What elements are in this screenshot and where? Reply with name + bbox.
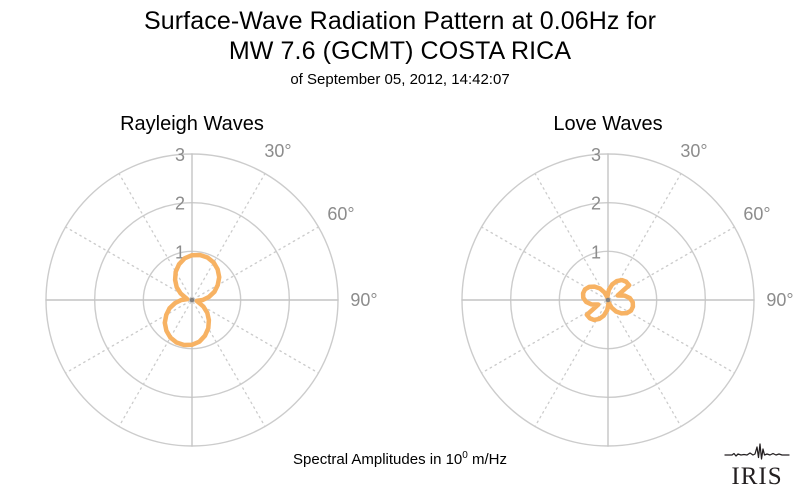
angle-tick-label: 90° [766, 290, 793, 310]
footer-caption: Spectral Amplitudes in 100 m/Hz [0, 450, 800, 468]
radial-tick-label: 1 [591, 242, 601, 262]
iris-wordmark: IRIS [724, 464, 790, 489]
angle-tick-label: 60° [743, 204, 770, 224]
figure-canvas: Surface-Wave Radiation Pattern at 0.06Hz… [0, 0, 800, 493]
radial-tick-label: 2 [591, 194, 601, 214]
caption-suffix: m/Hz [468, 451, 507, 468]
iris-logo: IRIS [724, 443, 790, 487]
origin-dot [606, 298, 611, 303]
love-polar-plot: 12330°60°90° [0, 0, 800, 493]
angle-tick-label: 30° [680, 141, 707, 161]
caption-prefix: Spectral Amplitudes in 10 [293, 451, 462, 468]
radial-tick-label: 3 [591, 145, 601, 165]
seismogram-icon [724, 443, 790, 461]
